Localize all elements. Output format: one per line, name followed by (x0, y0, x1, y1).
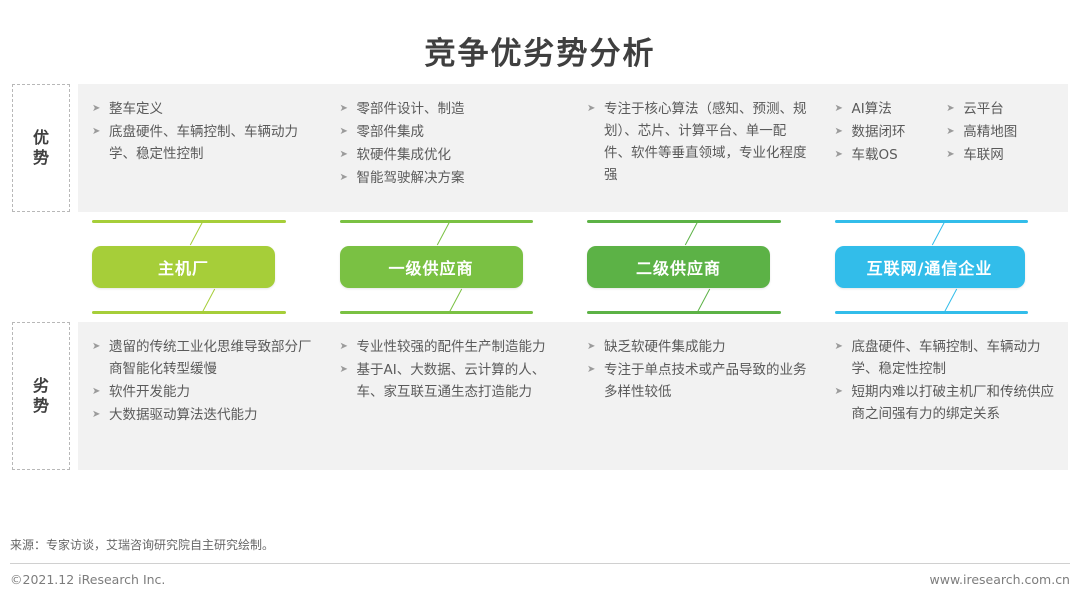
footer-divider (10, 563, 1070, 564)
list-item: 大数据驱动算法迭代能力 (92, 404, 316, 426)
advantages-row: 优势 整车定义 底盘硬件、车辆控制、车辆动力学、稳定性控制 零部件设计、制造 零… (12, 84, 1068, 212)
accent-bar-bottom-1 (92, 311, 286, 314)
advantage-list-1: 整车定义 底盘硬件、车辆控制、车辆动力学、稳定性控制 (92, 98, 316, 166)
list-item: 缺乏软硬件集成能力 (587, 336, 811, 358)
connector-line-bottom-4 (944, 289, 957, 312)
accent-bar-top-4 (835, 220, 1029, 223)
list-item: 基于AI、大数据、云计算的人、车、家互联互通生态打造能力 (340, 359, 564, 403)
category-badge-4[interactable]: 互联网/通信企业 (835, 246, 1025, 288)
category-cell-1: 主机厂 (78, 212, 326, 322)
list-item: 零部件设计、制造 (340, 98, 564, 120)
connector-line-top-4 (932, 222, 945, 245)
list-item: 软硬件集成优化 (340, 144, 564, 166)
category-badge-3[interactable]: 二级供应商 (587, 246, 770, 288)
row-label-disadvantage-text: 劣势 (33, 376, 49, 416)
category-cell-3: 二级供应商 (573, 212, 821, 322)
comparison-board: 优势 整车定义 底盘硬件、车辆控制、车辆动力学、稳定性控制 零部件设计、制造 零… (12, 84, 1068, 474)
advantage-column-2: 零部件设计、制造 零部件集成 软硬件集成优化 智能驾驶解决方案 (326, 98, 574, 190)
connector-line-top-3 (685, 222, 698, 245)
list-item: 软件开发能力 (92, 381, 316, 403)
advantage-list-4a: AI算法 数据闭环 车载OS (835, 98, 947, 166)
advantage-list-3: 专注于核心算法（感知、预测、规划）、芯片、计算平台、单一配件、软件等垂直领域，专… (587, 98, 811, 187)
list-item: 零部件集成 (340, 121, 564, 143)
connector-line-top-2 (437, 222, 450, 245)
list-item: 云平台 (946, 98, 1058, 120)
source-note: 来源：专家访谈，艾瑞咨询研究院自主研究绘制。 (10, 536, 274, 553)
accent-bar-bottom-3 (587, 311, 781, 314)
disadvantages-row: 劣势 遗留的传统工业化思维导致部分厂商智能化转型缓慢 软件开发能力 大数据驱动算… (12, 322, 1068, 470)
list-item: 车联网 (946, 144, 1058, 166)
list-item: AI算法 (835, 98, 947, 120)
advantage-column-4: AI算法 数据闭环 车载OS 云平台 高精地图 车联网 (821, 98, 1069, 167)
disadvantage-list-3: 缺乏软硬件集成能力 专注于单点技术或产品导致的业务多样性较低 (587, 336, 811, 404)
advantage-column-4a: AI算法 数据闭环 车载OS (835, 98, 947, 167)
disadvantage-list-4: 底盘硬件、车辆控制、车辆动力学、稳定性控制 短期内难以打破主机厂和传统供应商之间… (835, 336, 1059, 426)
category-badge-2[interactable]: 一级供应商 (340, 246, 523, 288)
list-item: 专业性较强的配件生产制造能力 (340, 336, 564, 358)
disadvantage-column-2: 专业性较强的配件生产制造能力 基于AI、大数据、云计算的人、车、家互联互通生态打… (326, 336, 574, 404)
accent-bar-bottom-2 (340, 311, 534, 314)
disadvantages-panel: 遗留的传统工业化思维导致部分厂商智能化转型缓慢 软件开发能力 大数据驱动算法迭代… (78, 322, 1068, 470)
advantage-column-4b: 云平台 高精地图 车联网 (946, 98, 1058, 167)
list-item: 底盘硬件、车辆控制、车辆动力学、稳定性控制 (92, 121, 316, 165)
list-item: 车载OS (835, 144, 947, 166)
row-label-advantage-text: 优势 (33, 128, 49, 168)
list-item: 底盘硬件、车辆控制、车辆动力学、稳定性控制 (835, 336, 1059, 380)
footer-bar: ©2021.12 iResearch Inc. www.iresearch.co… (10, 572, 1070, 587)
page-title: 竞争优劣势分析 (0, 0, 1080, 84)
disadvantage-list-1: 遗留的传统工业化思维导致部分厂商智能化转型缓慢 软件开发能力 大数据驱动算法迭代… (92, 336, 316, 427)
list-item: 智能驾驶解决方案 (340, 167, 564, 189)
disadvantage-column-3: 缺乏软硬件集成能力 专注于单点技术或产品导致的业务多样性较低 (573, 336, 821, 404)
category-cell-4: 互联网/通信企业 (821, 212, 1069, 322)
advantage-list-2: 零部件设计、制造 零部件集成 软硬件集成优化 智能驾驶解决方案 (340, 98, 564, 190)
connector-line-bottom-1 (202, 289, 215, 312)
list-item: 数据闭环 (835, 121, 947, 143)
category-badge-1[interactable]: 主机厂 (92, 246, 275, 288)
disadvantage-column-4: 底盘硬件、车辆控制、车辆动力学、稳定性控制 短期内难以打破主机厂和传统供应商之间… (821, 336, 1069, 426)
copyright-text: ©2021.12 iResearch Inc. (10, 572, 165, 587)
list-item: 短期内难以打破主机厂和传统供应商之间强有力的绑定关系 (835, 381, 1059, 425)
category-cell-2: 一级供应商 (326, 212, 574, 322)
list-item: 高精地图 (946, 121, 1058, 143)
list-item: 整车定义 (92, 98, 316, 120)
website-link[interactable]: www.iresearch.com.cn (930, 572, 1071, 587)
row-label-advantage: 优势 (12, 84, 70, 212)
advantage-column-1: 整车定义 底盘硬件、车辆控制、车辆动力学、稳定性控制 (78, 98, 326, 166)
category-band: 主机厂 一级供应商 二级供应商 互联网/通信企业 (78, 212, 1068, 322)
advantage-list-4b: 云平台 高精地图 车联网 (946, 98, 1058, 166)
advantages-panel: 整车定义 底盘硬件、车辆控制、车辆动力学、稳定性控制 零部件设计、制造 零部件集… (78, 84, 1068, 212)
accent-bar-top-1 (92, 220, 286, 223)
list-item: 专注于核心算法（感知、预测、规划）、芯片、计算平台、单一配件、软件等垂直领域，专… (587, 98, 811, 186)
accent-bar-top-3 (587, 220, 781, 223)
connector-line-bottom-2 (449, 289, 462, 312)
connector-line-top-1 (190, 222, 203, 245)
accent-bar-top-2 (340, 220, 534, 223)
row-label-disadvantage: 劣势 (12, 322, 70, 470)
advantage-column-3: 专注于核心算法（感知、预测、规划）、芯片、计算平台、单一配件、软件等垂直领域，专… (573, 98, 821, 187)
list-item: 遗留的传统工业化思维导致部分厂商智能化转型缓慢 (92, 336, 316, 380)
list-item: 专注于单点技术或产品导致的业务多样性较低 (587, 359, 811, 403)
connector-line-bottom-3 (697, 289, 710, 312)
disadvantage-column-1: 遗留的传统工业化思维导致部分厂商智能化转型缓慢 软件开发能力 大数据驱动算法迭代… (78, 336, 326, 427)
disadvantage-list-2: 专业性较强的配件生产制造能力 基于AI、大数据、云计算的人、车、家互联互通生态打… (340, 336, 564, 404)
accent-bar-bottom-4 (835, 311, 1029, 314)
